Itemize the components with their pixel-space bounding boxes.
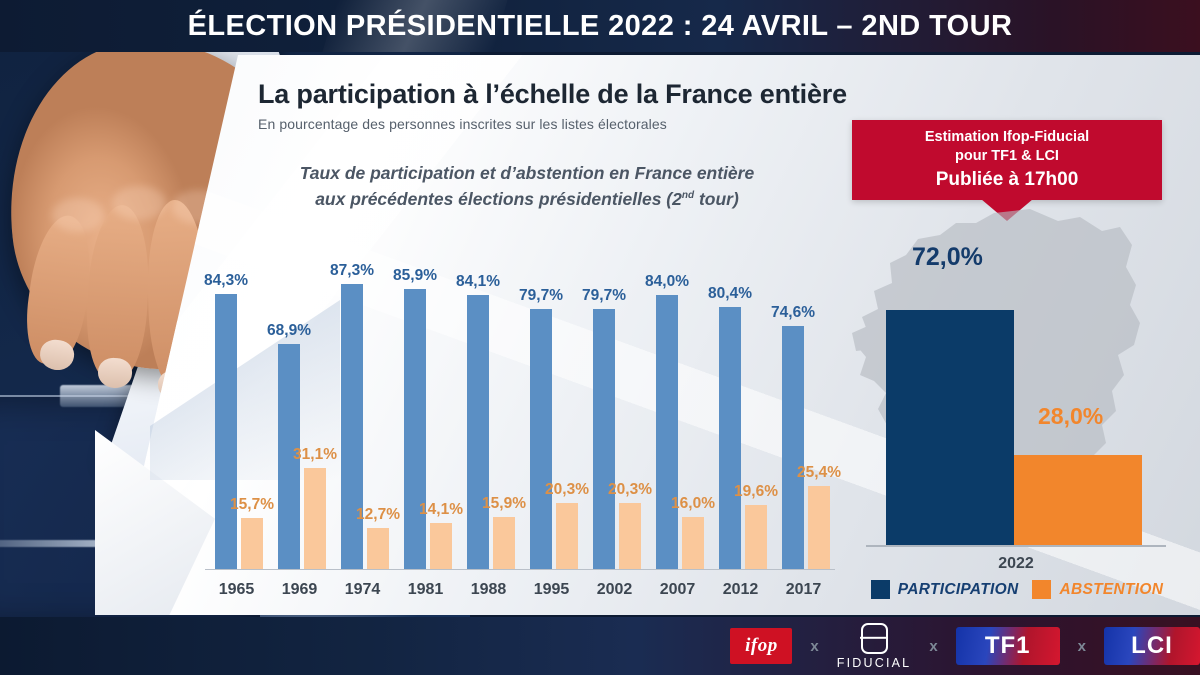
bar-participation: [404, 289, 426, 569]
value-label-participation: 84,1%: [456, 273, 500, 291]
x-axis-year-label: 2002: [583, 581, 646, 599]
value-label-participation: 79,7%: [519, 287, 563, 305]
bar-abstention: [367, 528, 389, 569]
historical-bar-chart: 84,3%15,7%196568,9%31,1%196987,3%12,7%19…: [205, 225, 835, 570]
bar-abstention: [304, 468, 326, 569]
x-axis-year-label: 2017: [772, 581, 835, 599]
value-label-participation: 79,7%: [582, 287, 626, 305]
bar-group: 84,0%16,0%2007: [646, 269, 709, 569]
x-axis-year-label: 1969: [268, 581, 331, 599]
chart-baseline: [205, 569, 835, 570]
legend-item-participation: PARTICIPATION: [871, 580, 1019, 599]
bar-participation: [341, 284, 363, 569]
legend-label-abstention: ABSTENTION: [1059, 581, 1163, 599]
bar-group: 74,6%25,4%2017: [772, 269, 835, 569]
legend-swatch-participation: [871, 580, 890, 599]
bar-abstention: [619, 503, 641, 569]
value-label-participation: 84,0%: [645, 273, 689, 291]
bar-abstention: [682, 517, 704, 569]
value-label-participation: 74,6%: [771, 304, 815, 322]
value-label-2022-participation: 72,0%: [912, 243, 983, 272]
knuckle-highlight-1: [52, 198, 104, 232]
value-label-participation: 68,9%: [267, 322, 311, 340]
ifop-logo: ifop: [730, 628, 792, 664]
section-subheading: En pourcentage des personnes inscrites s…: [258, 116, 667, 132]
bar-2022-participation: [886, 310, 1014, 545]
chart-caption-ordinal: nd: [682, 190, 694, 201]
value-label-participation: 85,9%: [393, 267, 437, 285]
chart-legend: PARTICIPATION ABSTENTION: [852, 580, 1182, 599]
bar-group: 79,7%20,3%1995: [520, 269, 583, 569]
footer-separator-1: x: [810, 638, 818, 655]
footer-separator-3: x: [1078, 638, 1086, 655]
estimation-line-3: Publiée à 17h00: [852, 168, 1162, 193]
x-axis-year-label: 1974: [331, 581, 394, 599]
bar-group: 80,4%19,6%2012: [709, 269, 772, 569]
bar-abstention: [745, 505, 767, 569]
result-2022-baseline: [866, 545, 1166, 547]
legend-item-abstention: ABSTENTION: [1032, 580, 1163, 599]
bar-group: 85,9%14,1%1981: [394, 269, 457, 569]
x-axis-year-label: 2007: [646, 581, 709, 599]
bar-group: 84,3%15,7%1965: [205, 269, 268, 569]
bar-abstention: [241, 518, 263, 569]
x-axis-year-label: 1995: [520, 581, 583, 599]
bar-abstention: [808, 486, 830, 569]
bar-group: 79,7%20,3%2002: [583, 269, 646, 569]
value-label-participation: 84,3%: [204, 272, 248, 290]
estimation-line-2: pour TF1 & LCI: [852, 147, 1162, 165]
x-axis-year-label: 2012: [709, 581, 772, 599]
section-heading: La participation à l’échelle de la Franc…: [258, 79, 847, 110]
bar-abstention: [493, 517, 515, 569]
result-2022-panel: 72,0% 28,0% 2022 PARTICIPATION ABSTENTIO…: [838, 205, 1188, 605]
bar-participation: [215, 294, 237, 569]
fiducial-wordmark: FIDUCIAL: [837, 656, 912, 670]
lci-logo: LCI: [1104, 627, 1200, 665]
bar-participation: [656, 295, 678, 569]
bar-participation: [719, 307, 741, 569]
value-label-abstention: 25,4%: [797, 464, 841, 482]
bar-group: 84,1%15,9%1988: [457, 269, 520, 569]
bar-participation: [782, 326, 804, 569]
result-2022-year-label: 2022: [866, 555, 1166, 573]
legend-label-participation: PARTICIPATION: [898, 581, 1019, 599]
bar-group: 68,9%31,1%1969: [268, 269, 331, 569]
bar-abstention: [556, 503, 578, 569]
infographic-canvas: ÉLECTION PRÉSIDENTIELLE 2022 : 24 AVRIL …: [0, 0, 1200, 675]
chart-caption-line-2-pre: aux précédentes élections présidentielle…: [315, 189, 682, 209]
legend-swatch-abstention: [1032, 580, 1051, 599]
chart-caption-line-2-post: tour): [694, 189, 739, 209]
x-axis-year-label: 1988: [457, 581, 520, 599]
tf1-logo: TF1: [956, 627, 1060, 665]
bar-abstention: [430, 523, 452, 569]
value-label-participation: 80,4%: [708, 285, 752, 303]
fiducial-logo: FIDUCIAL: [837, 623, 912, 670]
bar-group: 87,3%12,7%1974: [331, 269, 394, 569]
footer-separator-2: x: [929, 638, 937, 655]
page-title: ÉLECTION PRÉSIDENTIELLE 2022 : 24 AVRIL …: [0, 0, 1200, 52]
x-axis-year-label: 1981: [394, 581, 457, 599]
footer-bar: ifop x FIDUCIAL x TF1 x LCI: [0, 617, 1200, 675]
value-label-2022-abstention: 28,0%: [1038, 403, 1103, 430]
estimation-line-1: Estimation Ifop-Fiducial: [852, 128, 1162, 146]
bar-2022-abstention: [1014, 455, 1142, 545]
bar-participation: [467, 295, 489, 569]
chart-caption: Taux de participation et d’abstention en…: [252, 160, 802, 213]
x-axis-year-label: 1965: [205, 581, 268, 599]
bar-participation: [593, 309, 615, 569]
knuckle-highlight-2: [112, 186, 166, 220]
bar-participation: [530, 309, 552, 569]
fiducial-mark-icon: [861, 623, 888, 654]
value-label-participation: 87,3%: [330, 262, 374, 280]
chart-caption-line-1: Taux de participation et d’abstention en…: [300, 163, 754, 183]
estimation-callout: Estimation Ifop-Fiducial pour TF1 & LCI …: [852, 120, 1162, 200]
